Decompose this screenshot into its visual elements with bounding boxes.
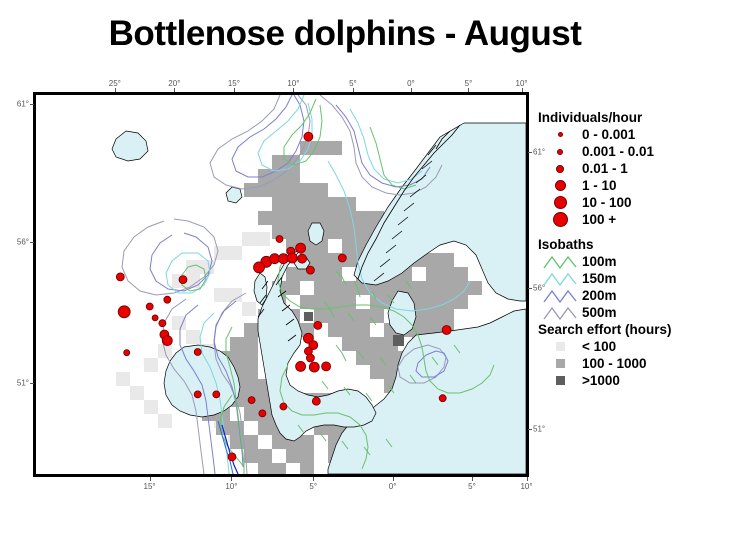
sighting-dot bbox=[213, 391, 220, 398]
isobath-legend-row: 200m bbox=[538, 287, 743, 304]
axis-label-bottom: 15° bbox=[143, 482, 155, 491]
axis-label-top: 0° bbox=[407, 79, 415, 88]
sighting-dot bbox=[118, 306, 130, 318]
sighting-dot bbox=[194, 349, 201, 356]
axis-tick-mark bbox=[528, 288, 532, 289]
sighting-dot bbox=[298, 254, 307, 263]
axis-label-top: 10° bbox=[515, 79, 527, 88]
isobath-legend-label: 150m bbox=[582, 271, 617, 286]
axis-label-top: 5° bbox=[465, 79, 473, 88]
sighting-dot bbox=[314, 321, 322, 329]
sighting-dot bbox=[296, 243, 306, 253]
isobath-legend-label: 500m bbox=[582, 305, 617, 320]
search-effort-legend-label: >1000 bbox=[582, 373, 620, 388]
axis-label-top: 15° bbox=[228, 79, 240, 88]
sighting-dot bbox=[309, 362, 319, 372]
sighting-dot bbox=[159, 320, 166, 327]
sighting-dot bbox=[248, 397, 255, 404]
isobath-legend-line bbox=[538, 288, 582, 304]
individuals-legend-dot bbox=[538, 132, 582, 137]
isobath-legend-line bbox=[538, 254, 582, 270]
sighting-dot bbox=[254, 262, 265, 273]
axis-tick-mark bbox=[353, 88, 354, 92]
individuals-legend-dot bbox=[538, 196, 582, 209]
sighting-dot bbox=[124, 350, 130, 356]
sighting-dot bbox=[304, 132, 313, 141]
individuals-legend: Individuals/hour 0 - 0.0010.001 - 0.010.… bbox=[538, 110, 743, 228]
axis-tick-mark bbox=[174, 88, 175, 92]
individuals-legend-label: 100 + bbox=[582, 212, 616, 227]
sighting-dot bbox=[322, 362, 331, 371]
axis-tick-mark bbox=[150, 477, 151, 481]
map-graphic bbox=[36, 95, 526, 474]
axis-tick-mark bbox=[522, 88, 523, 92]
individuals-legend-dot bbox=[538, 212, 582, 227]
sighting-dot bbox=[259, 410, 266, 417]
individuals-legend-label: 1 - 10 bbox=[582, 178, 617, 193]
sighting-dot bbox=[338, 254, 346, 262]
axis-tick-mark bbox=[115, 88, 116, 92]
isobaths-heading: Isobaths bbox=[538, 237, 743, 252]
axis-label-bottom: 5° bbox=[309, 482, 317, 491]
sighting-dot bbox=[439, 395, 446, 402]
axis-tick-mark bbox=[411, 88, 412, 92]
sighting-dot bbox=[442, 326, 451, 335]
isobath-legend-label: 100m bbox=[582, 254, 617, 269]
sighting-dot bbox=[276, 236, 283, 243]
isobath-legend-line bbox=[538, 271, 582, 287]
sighting-dot bbox=[296, 361, 306, 371]
sighting-dot bbox=[116, 273, 124, 281]
search-effort-legend-row: 100 - 1000 bbox=[538, 355, 743, 372]
sighting-dot bbox=[162, 336, 172, 346]
individuals-legend-row: 0.01 - 1 bbox=[538, 160, 743, 177]
axis-label-bottom: 10° bbox=[520, 482, 532, 491]
individuals-legend-row: 1 - 10 bbox=[538, 177, 743, 194]
axis-tick-mark bbox=[468, 88, 469, 92]
individuals-legend-row: 100 + bbox=[538, 211, 743, 228]
search-effort-legend-label: < 100 bbox=[582, 339, 616, 354]
sighting-dot bbox=[306, 266, 314, 274]
axis-label-top: 25° bbox=[109, 79, 121, 88]
sighting-dot bbox=[228, 453, 236, 461]
isobath-legend-label: 200m bbox=[582, 288, 617, 303]
axis-tick-mark bbox=[472, 477, 473, 481]
individuals-legend-dot bbox=[538, 149, 582, 155]
individuals-legend-row: 10 - 100 bbox=[538, 194, 743, 211]
map-legend: Individuals/hour 0 - 0.0010.001 - 0.010.… bbox=[538, 110, 743, 389]
axis-tick-mark bbox=[30, 104, 34, 105]
individuals-legend-row: 0.001 - 0.01 bbox=[538, 143, 743, 160]
axis-label-left: 61° bbox=[11, 99, 29, 108]
isobath-legend-row: 150m bbox=[538, 270, 743, 287]
axis-label-right: 51° bbox=[533, 424, 545, 433]
axis-tick-mark bbox=[293, 88, 294, 92]
search-effort-legend-swatch bbox=[538, 376, 582, 385]
axis-label-bottom: 10° bbox=[225, 482, 237, 491]
axis-label-top: 5° bbox=[349, 79, 357, 88]
axis-label-bottom: 5° bbox=[468, 482, 476, 491]
axis-tick-mark bbox=[313, 477, 314, 481]
individuals-legend-label: 0.01 - 1 bbox=[582, 161, 628, 176]
axis-label-left: 51° bbox=[11, 378, 29, 387]
axis-tick-mark bbox=[527, 477, 528, 481]
axis-tick-mark bbox=[234, 88, 235, 92]
individuals-legend-dot bbox=[538, 180, 582, 191]
sighting-dot bbox=[312, 397, 320, 405]
sighting-dot bbox=[179, 276, 187, 284]
sighting-dot bbox=[278, 254, 288, 264]
sighting-dot bbox=[287, 253, 297, 263]
search-effort-legend-swatch bbox=[538, 342, 582, 351]
individuals-legend-dot bbox=[538, 165, 582, 173]
page-title: Bottlenose dolphins - August bbox=[0, 14, 690, 54]
axis-tick-mark bbox=[231, 477, 232, 481]
sighting-dot bbox=[164, 296, 171, 303]
individuals-heading: Individuals/hour bbox=[538, 110, 743, 125]
axis-tick-mark bbox=[528, 152, 532, 153]
axis-tick-mark bbox=[528, 429, 532, 430]
isobaths-legend: Isobaths 100m150m200m500m bbox=[538, 237, 743, 321]
sighting-dot bbox=[152, 315, 158, 321]
isobath-legend-row: 500m bbox=[538, 304, 743, 321]
sighting-dot bbox=[194, 391, 201, 398]
axis-label-top: 20° bbox=[168, 79, 180, 88]
search-effort-heading: Search effort (hours) bbox=[538, 322, 743, 337]
search-effort-legend: Search effort (hours) < 100100 - 1000>10… bbox=[538, 322, 743, 389]
map-canvas bbox=[36, 95, 526, 474]
sighting-dot bbox=[306, 354, 314, 362]
axis-label-left: 56° bbox=[11, 238, 29, 247]
individuals-legend-label: 0 - 0.001 bbox=[582, 127, 635, 142]
axis-tick-mark bbox=[30, 242, 34, 243]
map-frame bbox=[33, 92, 529, 477]
sighting-dot bbox=[280, 403, 287, 410]
axis-label-top: 10° bbox=[287, 79, 299, 88]
axis-tick-mark bbox=[393, 477, 394, 481]
search-effort-legend-label: 100 - 1000 bbox=[582, 356, 647, 371]
isobath-legend-line bbox=[538, 305, 582, 321]
axis-tick-mark bbox=[30, 383, 34, 384]
search-effort-legend-row: < 100 bbox=[538, 338, 743, 355]
individuals-legend-label: 10 - 100 bbox=[582, 195, 632, 210]
search-effort-legend-swatch bbox=[538, 359, 582, 368]
search-effort-legend-row: >1000 bbox=[538, 372, 743, 389]
isobath-legend-row: 100m bbox=[538, 253, 743, 270]
axis-label-bottom: 0° bbox=[389, 482, 397, 491]
individuals-legend-label: 0.001 - 0.01 bbox=[582, 144, 654, 159]
sighting-dot bbox=[146, 303, 153, 310]
individuals-legend-row: 0 - 0.001 bbox=[538, 126, 743, 143]
